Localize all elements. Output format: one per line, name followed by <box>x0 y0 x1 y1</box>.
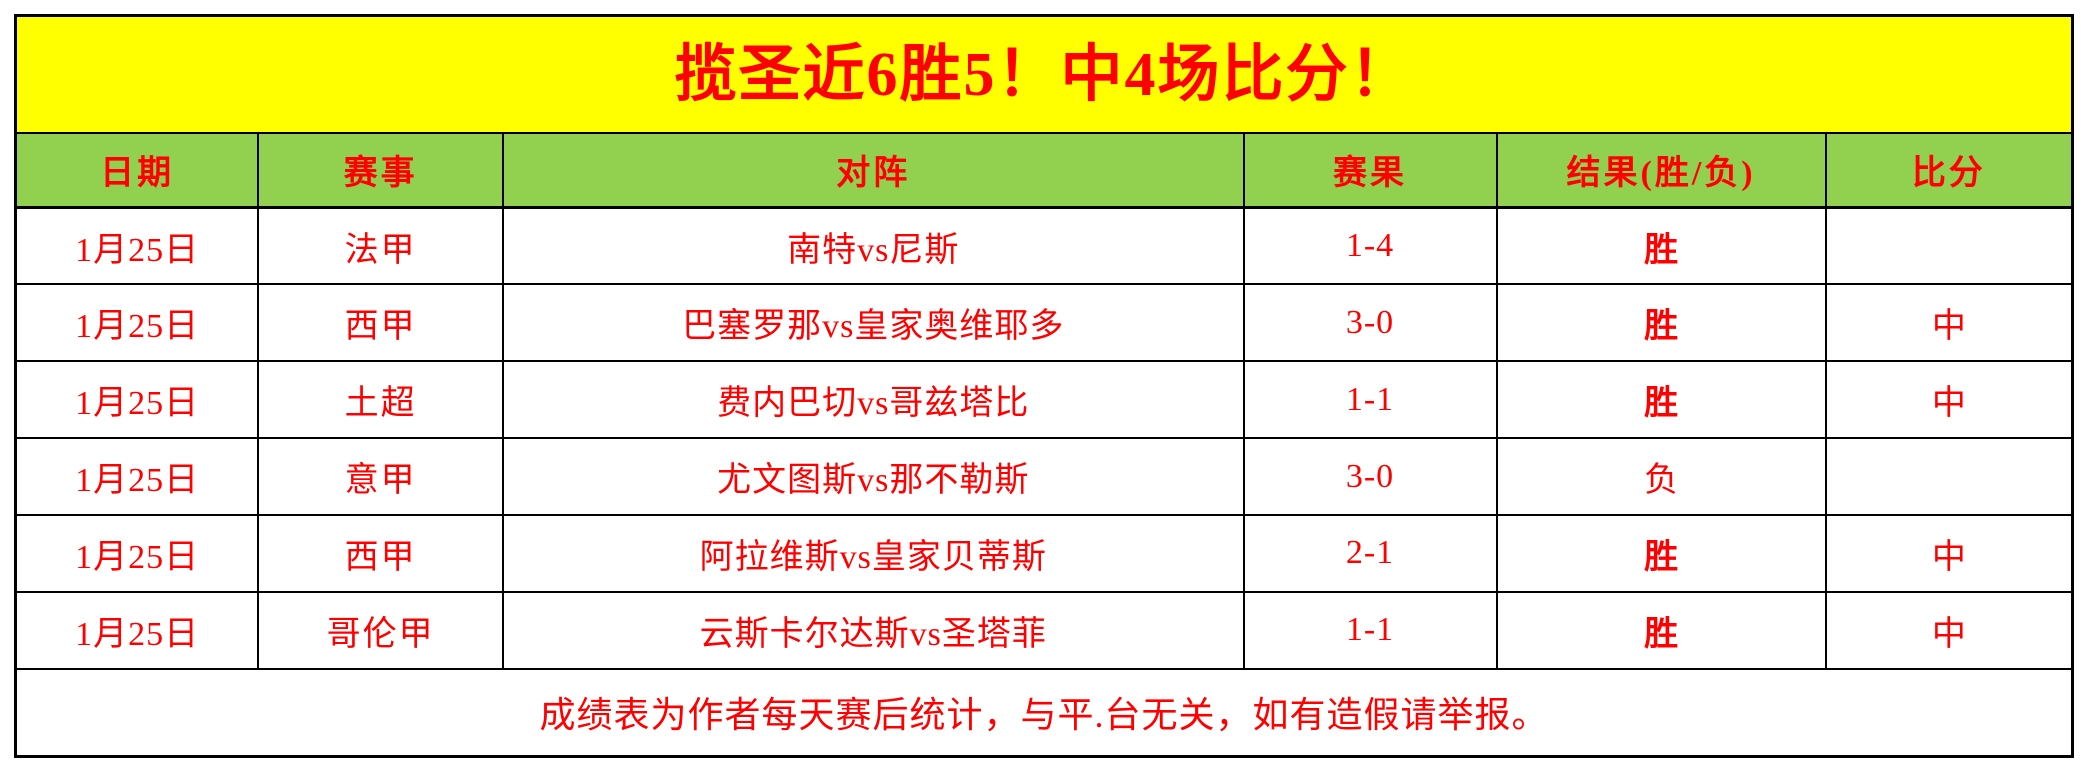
cell-hit <box>1826 207 2073 284</box>
cell-score: 2-1 <box>1244 515 1497 592</box>
cell-score: 3-0 <box>1244 284 1497 361</box>
cell-league: 哥伦甲 <box>258 592 503 669</box>
cell-date: 1月25日 <box>16 438 259 515</box>
table-row: 1月25日 土超 费内巴切vs哥兹塔比 1-1 胜 中 <box>16 361 2073 438</box>
cell-league: 法甲 <box>258 207 503 284</box>
cell-score: 1-4 <box>1244 207 1497 284</box>
cell-match: 尤文图斯vs那不勒斯 <box>503 438 1244 515</box>
table-row: 1月25日 法甲 南特vs尼斯 1-4 胜 <box>16 207 2073 284</box>
footer-row: 成绩表为作者每天赛后统计，与平.台无关，如有造假请举报。 <box>16 669 2073 757</box>
cell-outcome: 胜 <box>1497 515 1826 592</box>
cell-outcome: 胜 <box>1497 207 1826 284</box>
cell-match: 费内巴切vs哥兹塔比 <box>503 361 1244 438</box>
column-header-outcome: 结果(胜/负) <box>1497 133 1826 207</box>
cell-date: 1月25日 <box>16 207 259 284</box>
cell-hit: 中 <box>1826 515 2073 592</box>
cell-match: 阿拉维斯vs皇家贝蒂斯 <box>503 515 1244 592</box>
column-header-hit: 比分 <box>1826 133 2073 207</box>
cell-score: 1-1 <box>1244 592 1497 669</box>
cell-date: 1月25日 <box>16 592 259 669</box>
cell-match: 云斯卡尔达斯vs圣塔菲 <box>503 592 1244 669</box>
cell-outcome: 胜 <box>1497 284 1826 361</box>
cell-hit: 中 <box>1826 592 2073 669</box>
cell-match: 巴塞罗那vs皇家奥维耶多 <box>503 284 1244 361</box>
table-body: 揽圣近6胜5！中4场比分！ 日期 赛事 对阵 赛果 结果(胜/负) 比分 1月2… <box>16 16 2073 757</box>
table-row: 1月25日 西甲 巴塞罗那vs皇家奥维耶多 3-0 胜 中 <box>16 284 2073 361</box>
table-row: 1月25日 西甲 阿拉维斯vs皇家贝蒂斯 2-1 胜 中 <box>16 515 2073 592</box>
cell-hit <box>1826 438 2073 515</box>
cell-score: 1-1 <box>1244 361 1497 438</box>
match-results-table: 揽圣近6胜5！中4场比分！ 日期 赛事 对阵 赛果 结果(胜/负) 比分 1月2… <box>14 14 2074 758</box>
banner-cell: 揽圣近6胜5！中4场比分！ <box>16 16 2073 134</box>
table-header-row: 日期 赛事 对阵 赛果 结果(胜/负) 比分 <box>16 133 2073 207</box>
cell-hit: 中 <box>1826 284 2073 361</box>
results-sheet: 揽圣近6胜5！中4场比分！ 日期 赛事 对阵 赛果 结果(胜/负) 比分 1月2… <box>0 0 2088 768</box>
cell-outcome: 胜 <box>1497 592 1826 669</box>
cell-match: 南特vs尼斯 <box>503 207 1244 284</box>
cell-date: 1月25日 <box>16 361 259 438</box>
column-header-score: 赛果 <box>1244 133 1497 207</box>
cell-score: 3-0 <box>1244 438 1497 515</box>
table-row: 1月25日 哥伦甲 云斯卡尔达斯vs圣塔菲 1-1 胜 中 <box>16 592 2073 669</box>
cell-outcome: 负 <box>1497 438 1826 515</box>
table-row: 1月25日 意甲 尤文图斯vs那不勒斯 3-0 负 <box>16 438 2073 515</box>
cell-league: 意甲 <box>258 438 503 515</box>
title-row: 揽圣近6胜5！中4场比分！ <box>16 16 2073 134</box>
cell-league: 土超 <box>258 361 503 438</box>
cell-date: 1月25日 <box>16 515 259 592</box>
column-header-date: 日期 <box>16 133 259 207</box>
page-title: 揽圣近6胜5！中4场比分！ <box>674 41 1413 109</box>
cell-outcome: 胜 <box>1497 361 1826 438</box>
cell-league: 西甲 <box>258 284 503 361</box>
cell-hit: 中 <box>1826 361 2073 438</box>
column-header-league: 赛事 <box>258 133 503 207</box>
column-header-match: 对阵 <box>503 133 1244 207</box>
cell-date: 1月25日 <box>16 284 259 361</box>
disclaimer-note: 成绩表为作者每天赛后统计，与平.台无关，如有造假请举报。 <box>16 669 2073 757</box>
cell-league: 西甲 <box>258 515 503 592</box>
